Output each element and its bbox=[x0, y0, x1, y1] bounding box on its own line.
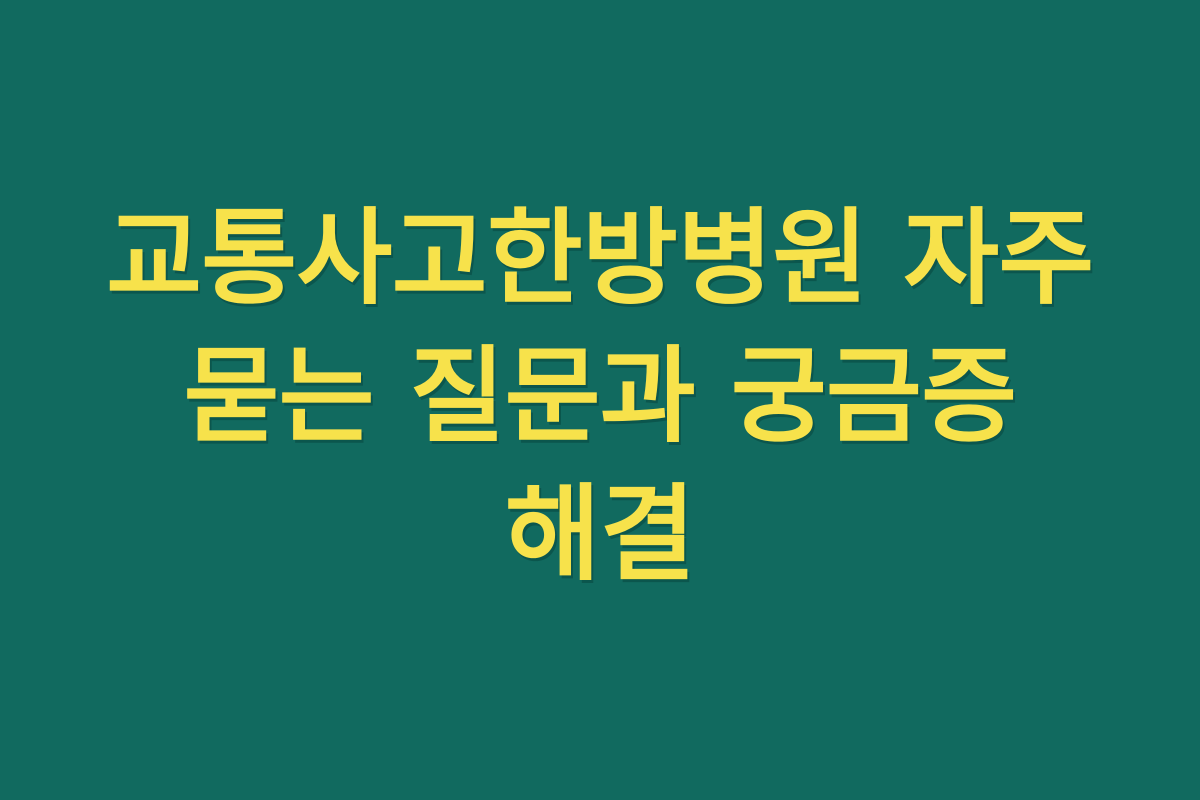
thumbnail-card: 교통사고한방병원 자주 묻는 질문과 궁금증 해결 bbox=[0, 0, 1200, 800]
headline-block: 교통사고한방병원 자주 묻는 질문과 궁금증 해결 bbox=[90, 189, 1110, 604]
page-title: 교통사고한방병원 자주 묻는 질문과 궁금증 해결 bbox=[90, 189, 1110, 604]
